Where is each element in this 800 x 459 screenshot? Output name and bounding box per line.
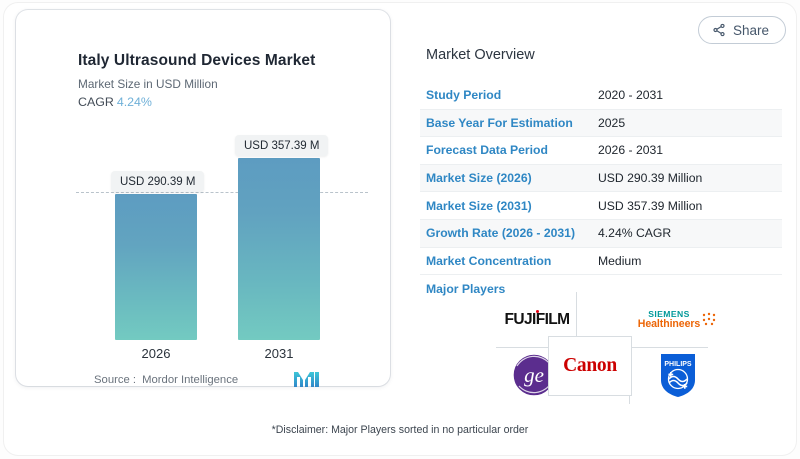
siemens-logo-line2: Healthineers (638, 319, 700, 330)
row-value: USD 357.39 Million (598, 199, 702, 213)
bar-2031 (238, 158, 320, 340)
share-button[interactable]: Share (698, 16, 786, 44)
source-text: Source :Mordor Intelligence (94, 374, 238, 386)
table-row: Study Period 2020 - 2031 (420, 82, 782, 110)
fujifilm-logo-text: FUJIFILM (505, 311, 570, 328)
row-key: Market Concentration (420, 254, 598, 268)
share-button-label: Share (733, 23, 769, 38)
chart-cagr: CAGR4.24% (78, 95, 152, 109)
source-name: Mordor Intelligence (142, 374, 238, 386)
chart-card: Italy Ultrasound Devices Market Market S… (16, 10, 390, 386)
x-axis-label-2026: 2026 (115, 346, 197, 361)
source-label: Source : (94, 374, 136, 386)
table-row: Forecast Data Period 2026 - 2031 (420, 137, 782, 165)
row-key: Study Period (420, 88, 598, 102)
row-key: Forecast Data Period (420, 143, 598, 157)
fujifilm-dot-icon (536, 310, 539, 313)
svg-text:ge: ge (524, 363, 544, 387)
philips-logo-text: PHILIPS (664, 361, 692, 368)
market-overview-table: Study Period 2020 - 2031 Base Year For E… (420, 82, 782, 303)
fujifilm-logo: FUJIFILM (498, 306, 576, 334)
table-row: Market Size (2031) USD 357.39 Million (420, 192, 782, 220)
share-nodes-icon (712, 23, 726, 37)
overview-title: Market Overview (426, 47, 535, 63)
philips-logo: PHILIPS (654, 350, 702, 400)
disclaimer-text: *Disclaimer: Major Players sorted in no … (0, 424, 800, 436)
canon-logo-text: Canon (563, 355, 617, 377)
chart-cagr-value: 4.24% (117, 95, 152, 109)
mordor-intelligence-logo (294, 371, 320, 393)
major-players-logo-grid: FUJIFILM SIEMENS Healthineers (496, 292, 708, 404)
row-key: Growth Rate (2026 - 2031) (420, 226, 598, 240)
siemens-healthineers-logo: SIEMENS Healthineers (630, 304, 708, 336)
table-row: Market Concentration Medium (420, 248, 782, 276)
row-key: Market Size (2031) (420, 199, 598, 213)
row-value: 2025 (598, 116, 625, 130)
row-value: 2020 - 2031 (598, 88, 663, 102)
row-value: 2026 - 2031 (598, 143, 663, 157)
reference-dashed-line (76, 192, 368, 193)
row-value: 4.24% CAGR (598, 226, 671, 240)
chart-title: Italy Ultrasound Devices Market (78, 52, 315, 70)
table-row: Market Size (2026) USD 290.39 Million (420, 165, 782, 193)
chart-subtitle: Market Size in USD Million (78, 77, 218, 91)
bar-2026 (115, 194, 197, 340)
row-value: Medium (598, 254, 641, 268)
table-row: Base Year For Estimation 2025 (420, 110, 782, 138)
bar-label-2026: USD 290.39 M (111, 171, 204, 192)
screenshot-root: Share Italy Ultrasound Devices Market Ma… (0, 0, 800, 459)
x-axis-label-2031: 2031 (238, 346, 320, 361)
row-key: Market Size (2026) (420, 171, 598, 185)
canon-logo: Canon (548, 336, 632, 396)
row-key: Base Year For Estimation (420, 116, 598, 130)
row-value: USD 290.39 Million (598, 171, 702, 185)
bar-label-2031: USD 357.39 M (235, 135, 328, 156)
table-row: Growth Rate (2026 - 2031) 4.24% CAGR (420, 220, 782, 248)
chart-cagr-label: CAGR (78, 95, 114, 109)
